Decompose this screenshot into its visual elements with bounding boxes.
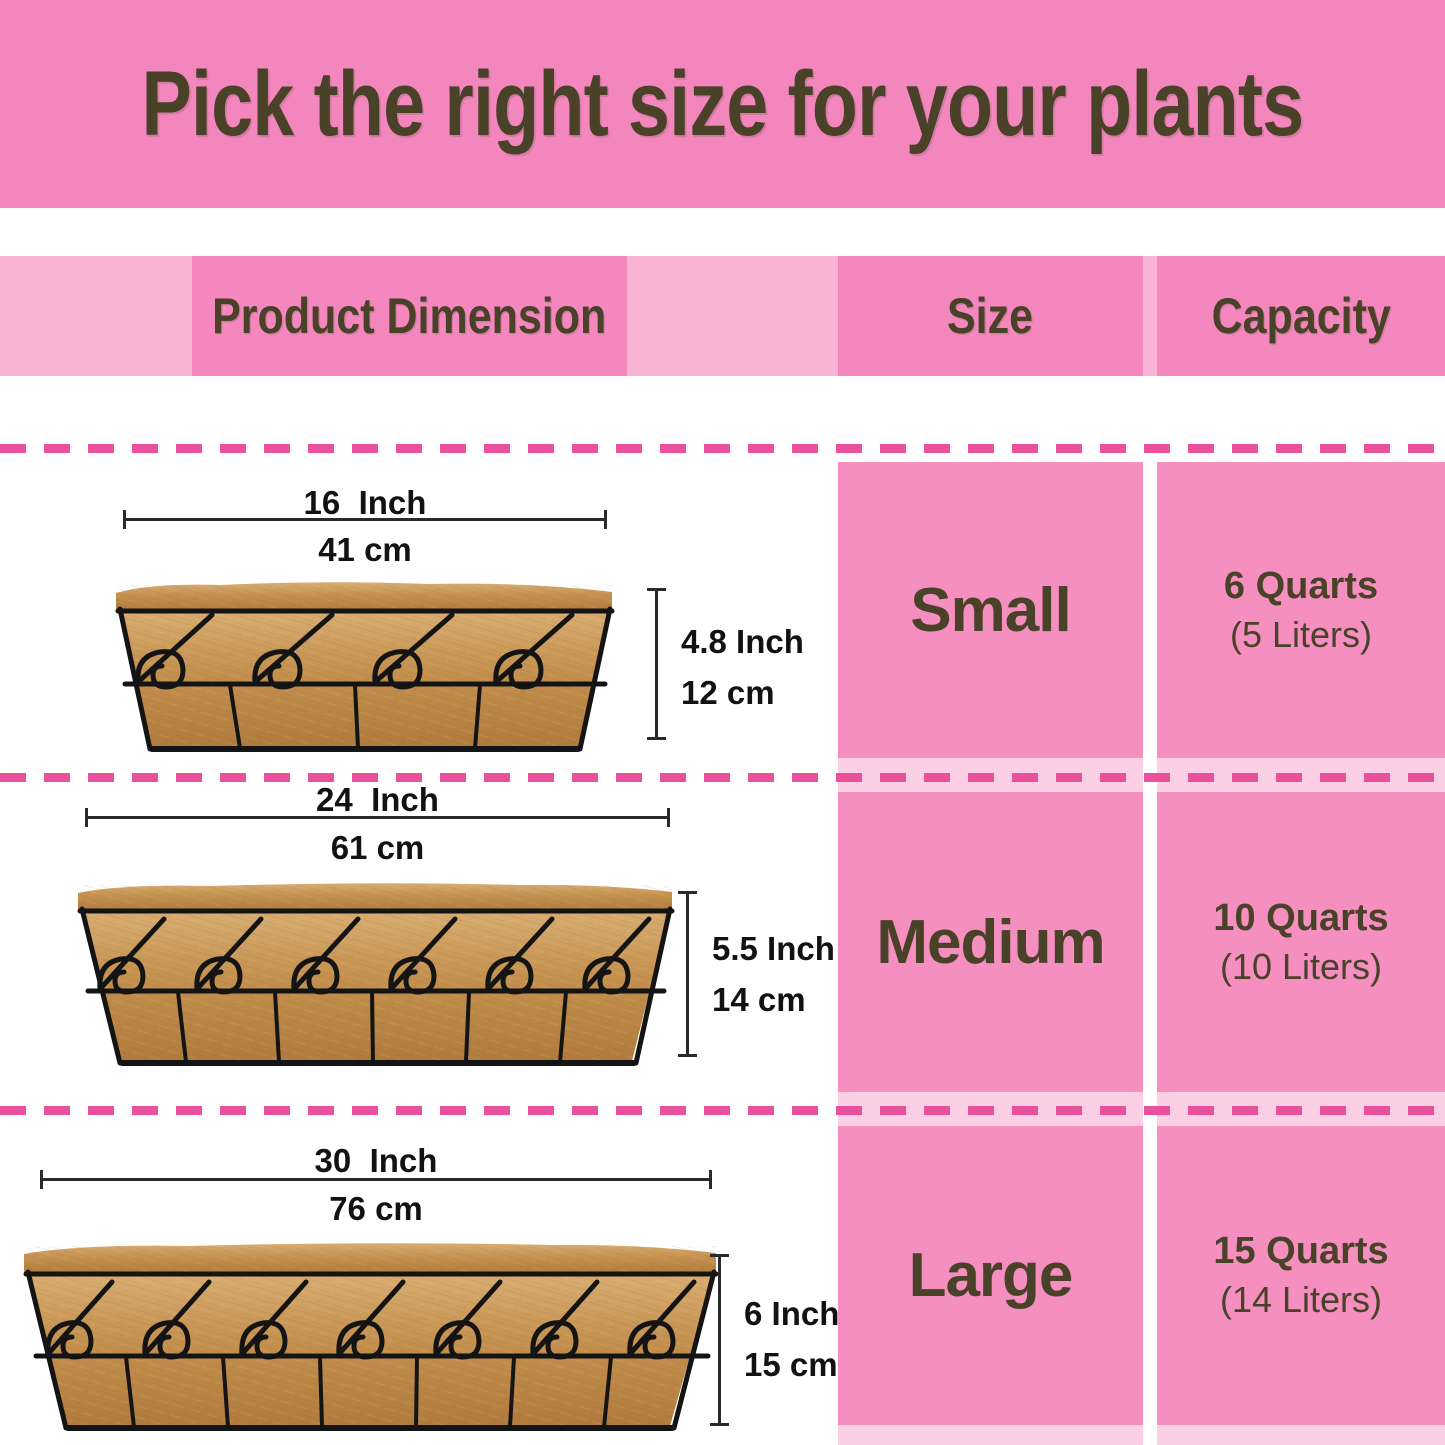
header-label-size: Size [947,287,1033,345]
width-inch-label-large: 30 Inch [40,1142,712,1180]
header-label-capacity: Capacity [1211,287,1390,345]
width-dimension-line-large [40,1178,712,1181]
height-inch-label-medium: 5.5 Inch [712,923,835,974]
table-row: 16 Inch 41 cm [0,376,838,773]
capacity-cell-large: 15 Quarts (14 Liters) [1157,1126,1445,1425]
width-dimension-line-medium [85,816,670,819]
row-separator-backing [1157,1425,1445,1445]
capacity-quarts-medium: 10 Quarts [1213,897,1388,940]
size-value-large: Large [909,1240,1073,1311]
header-spacer-left [0,256,192,376]
height-cm-label-medium: 14 cm [712,974,835,1025]
width-inch-label-small: 16 Inch [123,484,607,522]
table-row: 24 Inch 61 cm [0,773,838,1106]
capacity-liters-large: (14 Liters) [1220,1279,1382,1321]
size-value-small: Small [910,575,1070,646]
width-dimension-line-small [123,518,607,521]
page-title: Pick the right size for your plants [142,52,1304,157]
header-label-product-dimension: Product Dimension [212,287,606,345]
height-dimension-line-large [718,1254,721,1426]
row-separator-backing [838,1425,1143,1445]
planter-image-large [10,1234,732,1439]
row-divider-1 [0,444,1445,453]
capacity-cell-small: 6 Quarts (5 Liters) [1157,462,1445,758]
header-cell-product-dimension: Product Dimension [192,256,627,376]
width-cm-label-large: 76 cm [40,1190,712,1228]
size-value-medium: Medium [876,907,1104,978]
size-cell-large: Large [838,1126,1143,1425]
header-cell-capacity: Capacity [1157,256,1445,376]
width-inch-label-medium: 24 Inch [85,781,670,819]
header-cell-size: Size [838,256,1143,376]
height-cm-label-large: 15 cm [744,1339,839,1390]
planter-image-small [100,571,630,761]
capacity-liters-medium: (10 Liters) [1220,946,1382,988]
size-cell-medium: Medium [838,792,1143,1092]
row-divider-3 [0,1106,1445,1115]
height-inch-label-large: 6 Inch [744,1288,839,1339]
planter-image-medium [60,873,692,1073]
capacity-quarts-large: 15 Quarts [1213,1230,1388,1273]
title-banner: Pick the right size for your plants [0,0,1445,208]
width-cm-label-small: 41 cm [123,531,607,569]
height-dimension-line-small [655,588,658,740]
height-dimension-line-medium [686,891,689,1057]
height-cm-label-small: 12 cm [681,667,804,718]
table-header-row: Product Dimension Size Capacity [0,256,1445,376]
capacity-quarts-small: 6 Quarts [1224,565,1378,608]
header-spacer-middle [627,256,838,376]
height-inch-label-small: 4.8 Inch [681,616,804,667]
capacity-liters-small: (5 Liters) [1230,614,1372,656]
width-cm-label-medium: 61 cm [85,829,670,867]
row-divider-2 [0,773,1445,782]
size-cell-small: Small [838,462,1143,758]
header-spacer-right [1143,256,1157,376]
capacity-cell-medium: 10 Quarts (10 Liters) [1157,792,1445,1092]
comparison-table-body: 16 Inch 41 cm [0,376,1445,1445]
table-row: 30 Inch 76 cm [0,1106,838,1445]
